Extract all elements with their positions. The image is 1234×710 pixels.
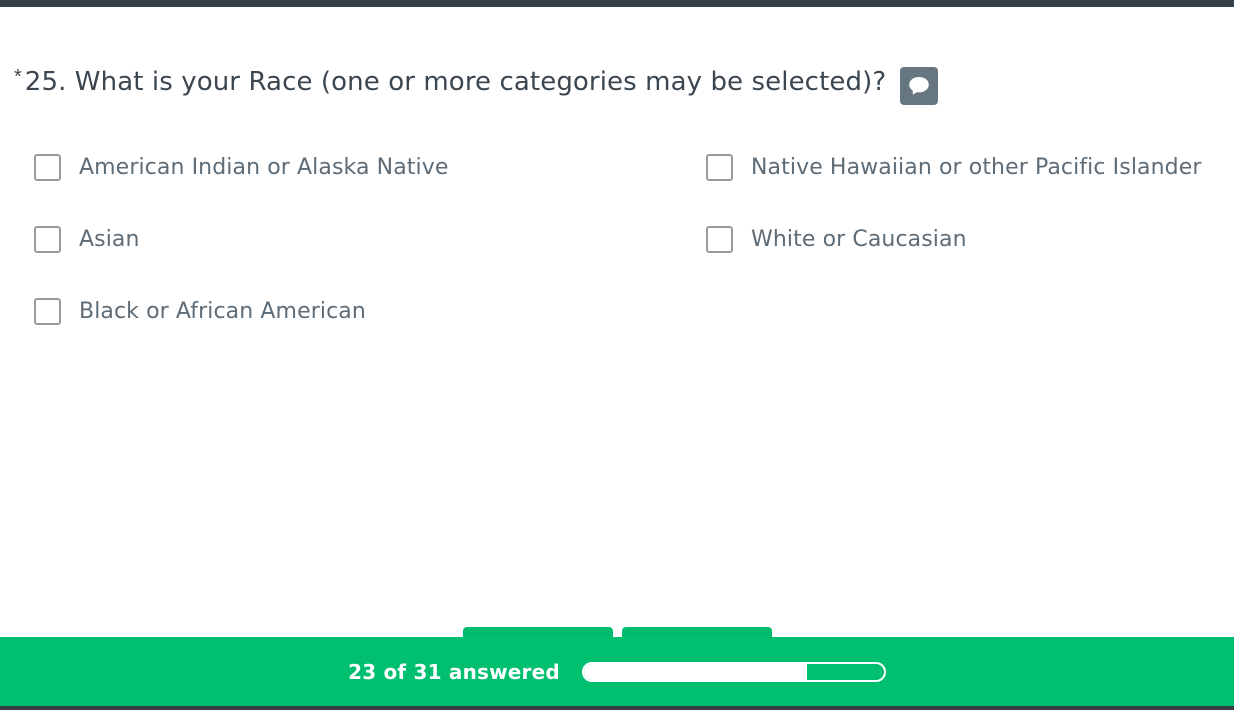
choice-item-american-indian-or-alaska-native[interactable]: American Indian or Alaska Native bbox=[34, 152, 684, 182]
choice-column-right: Native Hawaiian or other Pacific Islande… bbox=[706, 152, 1234, 296]
progress-label: 23 of 31 answered bbox=[348, 660, 560, 684]
choice-label: Asian bbox=[79, 226, 140, 253]
survey-page: * 25. What is your Race (one or more cat… bbox=[0, 0, 1234, 710]
speech-bubble-icon bbox=[908, 76, 930, 97]
progress-bar bbox=[582, 662, 886, 682]
checkbox-asian[interactable] bbox=[34, 226, 61, 253]
progress-footer: 23 of 31 answered bbox=[0, 637, 1234, 706]
choice-label: White or Caucasian bbox=[751, 226, 967, 253]
choice-item-native-hawaiian-or-other-pacific-islander[interactable]: Native Hawaiian or other Pacific Islande… bbox=[706, 152, 1234, 182]
comment-button[interactable] bbox=[900, 67, 938, 105]
required-asterisk: * bbox=[14, 67, 22, 87]
choice-item-asian[interactable]: Asian bbox=[34, 224, 684, 254]
question-header: * 25. What is your Race (one or more cat… bbox=[14, 65, 938, 105]
page-title: 25. What is your Race (one or more categ… bbox=[25, 65, 886, 99]
progress-wrap: 23 of 31 answered bbox=[348, 660, 886, 684]
choice-label: Native Hawaiian or other Pacific Islande… bbox=[751, 154, 1202, 181]
choice-label: Black or African American bbox=[79, 298, 366, 325]
survey-question-body: * 25. What is your Race (one or more cat… bbox=[0, 7, 1234, 637]
choice-item-white-or-caucasian[interactable]: White or Caucasian bbox=[706, 224, 1234, 254]
choice-column-left: American Indian or Alaska Native Asian B… bbox=[34, 152, 684, 368]
checkbox-white-or-caucasian[interactable] bbox=[706, 226, 733, 253]
checkbox-american-indian-or-alaska-native[interactable] bbox=[34, 154, 61, 181]
bottom-accent-bar bbox=[0, 706, 1234, 710]
progress-bar-fill bbox=[584, 664, 807, 680]
choice-label: American Indian or Alaska Native bbox=[79, 154, 448, 181]
checkbox-native-hawaiian-or-other-pacific-islander[interactable] bbox=[706, 154, 733, 181]
checkbox-black-or-african-american[interactable] bbox=[34, 298, 61, 325]
top-accent-bar bbox=[0, 0, 1234, 7]
choice-item-black-or-african-american[interactable]: Black or African American bbox=[34, 296, 684, 326]
